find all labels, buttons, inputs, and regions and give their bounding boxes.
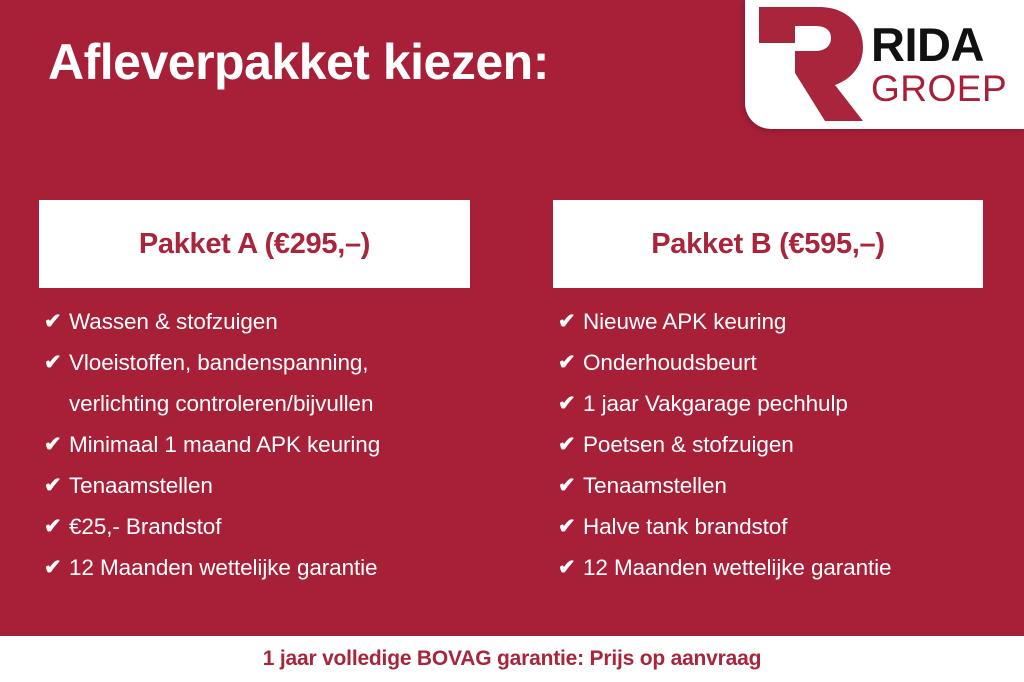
list-item-label: Wassen & stofzuigen bbox=[69, 301, 470, 342]
page-title: Afleverpakket kiezen: bbox=[48, 33, 549, 91]
list-item: ✔ Minimaal 1 maand APK keuring bbox=[39, 424, 470, 465]
list-item: ✔ Tenaamstellen bbox=[39, 465, 470, 506]
check-icon: ✔ bbox=[39, 424, 69, 465]
list-item-label: 1 jaar Vakgarage pechhulp bbox=[583, 383, 983, 424]
check-icon: ✔ bbox=[553, 424, 583, 465]
list-item-label: Halve tank brandstof bbox=[583, 506, 983, 547]
list-item-label: Poetsen & stofzuigen bbox=[583, 424, 983, 465]
package-a-header: Pakket A (€295,–) bbox=[39, 200, 470, 288]
check-icon: ✔ bbox=[553, 342, 583, 383]
list-item: ✔ 12 Maanden wettelijke garantie bbox=[39, 547, 470, 588]
check-icon: ✔ bbox=[39, 301, 69, 342]
check-icon: ✔ bbox=[553, 383, 583, 424]
list-item-label: Tenaamstellen bbox=[583, 465, 983, 506]
list-item: ✔ Tenaamstellen bbox=[553, 465, 983, 506]
brand-wordmark: RIDA GROEP bbox=[871, 22, 1007, 109]
list-item: ✔ Nieuwe APK keuring bbox=[553, 301, 983, 342]
package-b-header: Pakket B (€595,–) bbox=[553, 200, 983, 288]
list-item: ✔ 1 jaar Vakgarage pechhulp bbox=[553, 383, 983, 424]
list-item: ✔ Wassen & stofzuigen bbox=[39, 301, 470, 342]
brand-logo-panel: RIDA GROEP bbox=[745, 0, 1024, 129]
check-icon: ✔ bbox=[553, 301, 583, 342]
footer-text: 1 jaar volledige BOVAG garantie: Prijs o… bbox=[263, 647, 761, 671]
package-a-title: Pakket A (€295,–) bbox=[139, 228, 370, 261]
list-item-label: Vloeistoffen, bandenspanning, verlichtin… bbox=[69, 342, 470, 424]
list-item: ✔ 12 Maanden wettelijke garantie bbox=[553, 547, 983, 588]
rida-r-monogram-icon bbox=[755, 3, 867, 125]
list-item-label: Onderhoudsbeurt bbox=[583, 342, 983, 383]
package-b-title: Pakket B (€595,–) bbox=[651, 228, 885, 261]
check-icon: ✔ bbox=[553, 547, 583, 588]
package-b-feature-list: ✔ Nieuwe APK keuring ✔ Onderhoudsbeurt ✔… bbox=[553, 301, 983, 588]
package-a-feature-list: ✔ Wassen & stofzuigen ✔ Vloeistoffen, ba… bbox=[39, 301, 470, 588]
brand-name: RIDA bbox=[871, 22, 1007, 68]
brand-subname: GROEP bbox=[871, 70, 1007, 109]
package-card-b: Pakket B (€595,–) ✔ Nieuwe APK keuring ✔… bbox=[553, 200, 983, 588]
list-item-label: 12 Maanden wettelijke garantie bbox=[583, 547, 983, 588]
afleverpakket-poster: RIDA GROEP Afleverpakket kiezen: Pakket … bbox=[0, 0, 1024, 682]
list-item-label: €25,- Brandstof bbox=[69, 506, 470, 547]
packages-container: Pakket A (€295,–) ✔ Wassen & stofzuigen … bbox=[0, 200, 1024, 588]
list-item-label: 12 Maanden wettelijke garantie bbox=[69, 547, 470, 588]
check-icon: ✔ bbox=[553, 465, 583, 506]
list-item-label: Nieuwe APK keuring bbox=[583, 301, 983, 342]
list-item-label: Tenaamstellen bbox=[69, 465, 470, 506]
check-icon: ✔ bbox=[553, 506, 583, 547]
list-item: ✔ Halve tank brandstof bbox=[553, 506, 983, 547]
list-item: ✔ Vloeistoffen, bandenspanning, verlicht… bbox=[39, 342, 470, 424]
check-icon: ✔ bbox=[39, 465, 69, 506]
check-icon: ✔ bbox=[39, 547, 69, 588]
package-card-a: Pakket A (€295,–) ✔ Wassen & stofzuigen … bbox=[39, 200, 470, 588]
check-icon: ✔ bbox=[39, 506, 69, 547]
check-icon: ✔ bbox=[39, 342, 69, 383]
list-item-label: Minimaal 1 maand APK keuring bbox=[69, 424, 470, 465]
list-item: ✔ €25,- Brandstof bbox=[39, 506, 470, 547]
list-item: ✔ Onderhoudsbeurt bbox=[553, 342, 983, 383]
list-item: ✔ Poetsen & stofzuigen bbox=[553, 424, 983, 465]
footer-banner: 1 jaar volledige BOVAG garantie: Prijs o… bbox=[0, 636, 1024, 682]
